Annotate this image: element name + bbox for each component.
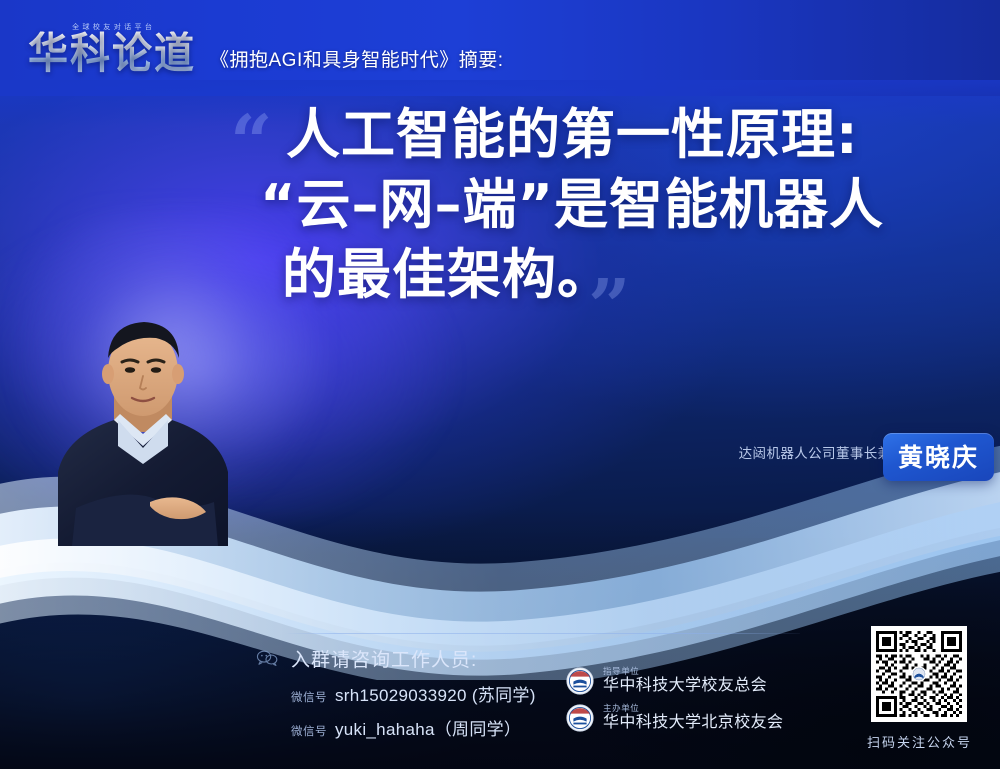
qr-caption: 扫码关注公众号: [867, 732, 972, 751]
wechat-label: 微信号: [291, 723, 327, 739]
page-title: 《拥抱AGI和具身智能时代》摘要:: [210, 45, 504, 72]
organizer-name: 华中科技大学北京校友会: [603, 714, 783, 732]
poster-root: 全球校友对话平台 华科论道 《拥抱AGI和具身智能时代》摘要: “ ” 人工智能…: [0, 0, 1000, 769]
speaker-attribution: 达闼机器人公司董事长兼CEO 黄晓庆: [739, 442, 922, 462]
wechat-id[interactable]: yuki_hahaha（周同学）: [335, 715, 521, 740]
organizer-kind: 主办单位: [603, 704, 783, 713]
quote-line: “云–网–端”是智能机器人: [260, 170, 970, 240]
university-seal-icon: [566, 704, 594, 732]
quote-line: 人工智能的第一性原理:: [286, 100, 970, 170]
brand-logo[interactable]: 全球校友对话平台 华科论道: [28, 22, 196, 75]
quote-close-mark: ”: [588, 270, 631, 344]
qr-code[interactable]: [871, 626, 967, 722]
quote-block: “ ” 人工智能的第一性原理: “云–网–端”是智能机器人 的最佳架构。: [230, 100, 970, 311]
university-seal-icon: [566, 667, 594, 695]
organizer-row: 主办单位 华中科技大学北京校友会: [566, 704, 783, 732]
header: 全球校友对话平台 华科论道 《拥抱AGI和具身智能时代》摘要:: [0, 0, 1000, 96]
quote-open-mark: “: [230, 106, 273, 180]
logo-wordmark: 华科论道: [28, 31, 196, 76]
organizer-list: 指导单位 华中科技大学校友总会 主办单位 华中科技大学北京校友会: [566, 667, 783, 741]
organizer-kind: 指导单位: [603, 667, 767, 676]
footer-divider: [284, 633, 800, 634]
wechat-label: 微信号: [291, 689, 327, 705]
organizer-texts: 主办单位 华中科技大学北京校友会: [603, 704, 783, 732]
organizer-row: 指导单位 华中科技大学校友总会: [566, 667, 783, 695]
organizer-texts: 指导单位 华中科技大学校友总会: [603, 667, 767, 695]
speaker-name-badge: 黄晓庆: [883, 433, 994, 481]
wechat-id[interactable]: srh15029033920 (苏同学): [335, 681, 536, 706]
qr-block: 扫码关注公众号: [867, 626, 972, 751]
organizer-name: 华中科技大学校友总会: [603, 677, 767, 695]
contact-heading: 入群请咨询工作人员:: [291, 645, 477, 672]
wechat-icon: [256, 650, 278, 667]
speaker-portrait: [18, 296, 268, 546]
